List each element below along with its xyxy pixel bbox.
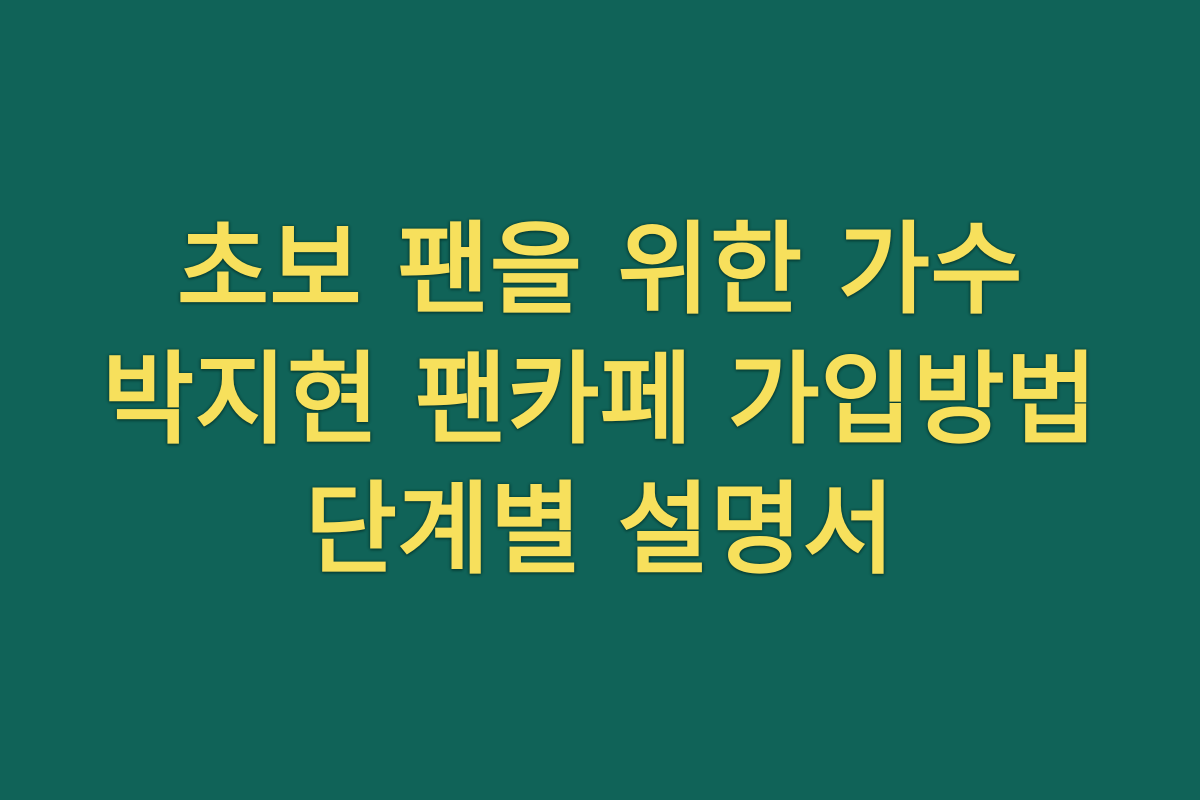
thumbnail-canvas: 초보 팬을 위한 가수 박지현 팬카페 가입방법 단계별 설명서 (0, 0, 1200, 800)
headline-block: 초보 팬을 위한 가수 박지현 팬카페 가입방법 단계별 설명서 (95, 205, 1105, 595)
page-title: 초보 팬을 위한 가수 박지현 팬카페 가입방법 단계별 설명서 (95, 205, 1105, 595)
